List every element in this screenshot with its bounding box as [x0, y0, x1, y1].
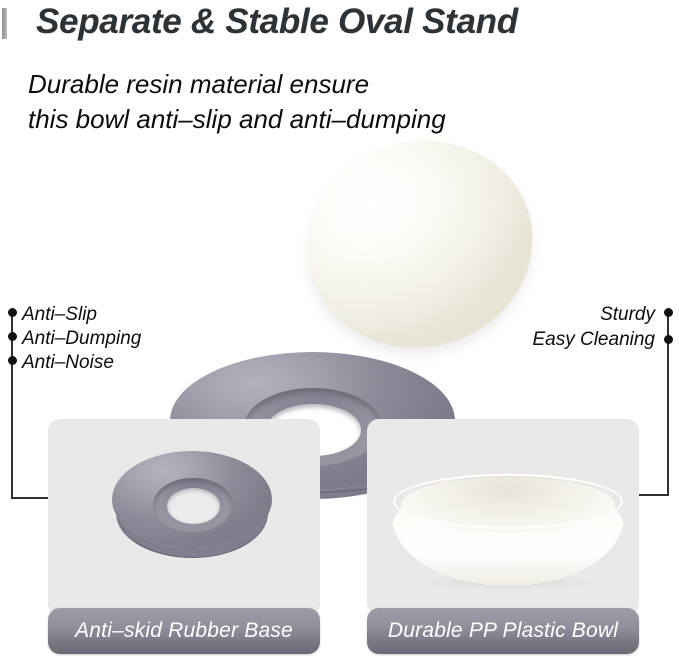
callout-label-sturdy: Sturdy: [450, 302, 655, 328]
page-subtitle: Durable resin material ensure this bowl …: [28, 67, 446, 137]
callout-left-dot-1: [8, 308, 17, 317]
callout-label-easy-cleaning: Easy Cleaning: [450, 327, 655, 353]
callout-right-dot-1: [664, 308, 673, 317]
page-title: Separate & Stable Oval Stand: [36, 2, 518, 42]
hero-product-illustration: [0, 130, 679, 420]
callout-label-anti-dumping: Anti–Dumping: [22, 326, 141, 352]
caption-plastic-bowl: Durable PP Plastic Bowl: [367, 608, 639, 654]
caption-plastic-bowl-text: Durable PP Plastic Bowl: [388, 619, 618, 643]
callout-left-dot-3: [8, 356, 17, 365]
callout-right-dot-2: [664, 335, 673, 344]
caption-rubber-base: Anti–skid Rubber Base: [48, 608, 320, 654]
callout-left-dot-2: [8, 332, 17, 341]
mini-stand-center-hole: [167, 488, 220, 524]
callout-label-anti-slip: Anti–Slip: [22, 302, 97, 328]
plastic-bowl-image: [392, 474, 624, 586]
caption-rubber-base-text: Anti–skid Rubber Base: [75, 619, 293, 643]
title-accent-bar: [2, 8, 7, 39]
product-infographic: Separate & Stable Oval Stand Durable res…: [0, 0, 679, 671]
panel-plastic-bowl: [367, 419, 639, 615]
panel-rubber-base: [48, 419, 320, 615]
rubber-base-image: [112, 451, 272, 575]
mini-bowl-rim: [393, 474, 623, 529]
callout-label-anti-noise: Anti–Noise: [22, 350, 114, 376]
